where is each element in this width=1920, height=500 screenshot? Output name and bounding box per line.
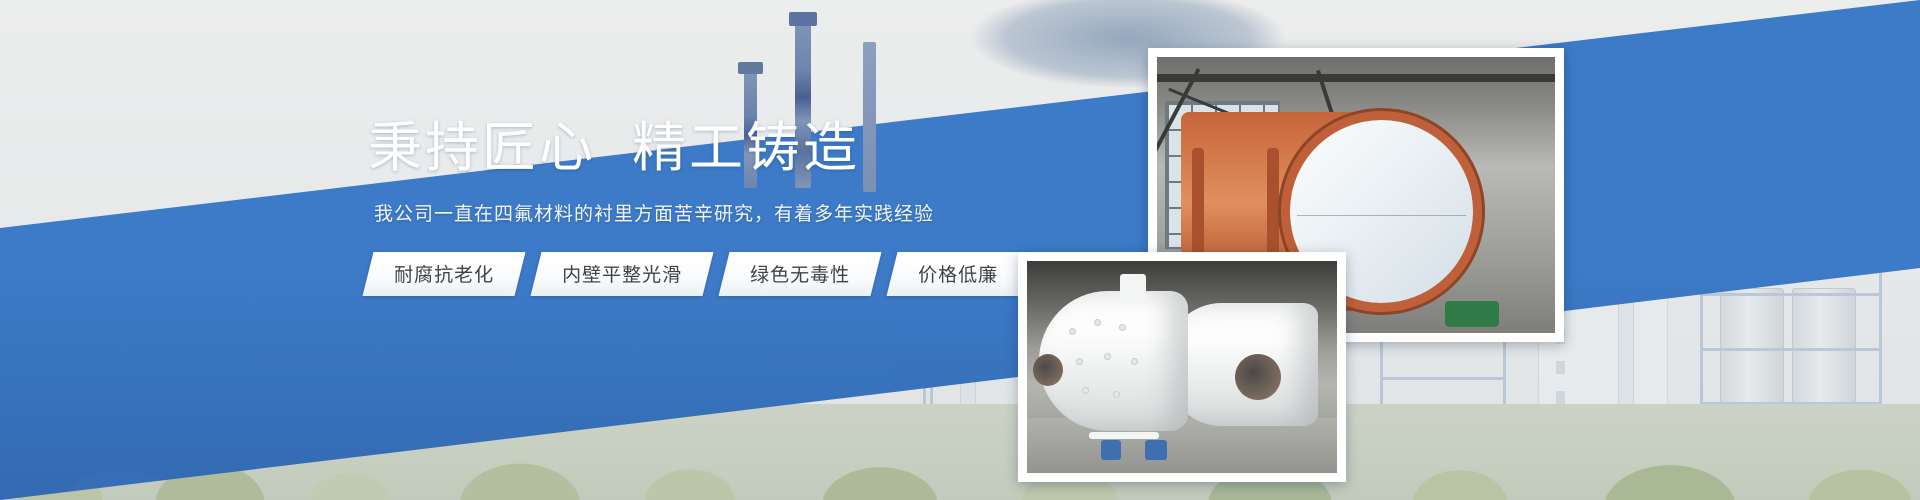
white-tanks-image [1027,261,1337,473]
feature-tag-list: 耐腐抗老化 内壁平整光滑 绿色无毒性 价格低廉 [368,252,1068,296]
tank-vent [1120,274,1146,300]
page-subtitle: 我公司一直在四氟材料的衬里方面苦辛研究，有着多年实践经验 [374,199,1068,226]
building-window [1556,391,1565,404]
feature-tag-1-label: 耐腐抗老化 [394,260,494,287]
feature-tag-4[interactable]: 价格低廉 [887,252,1030,296]
page-title: 秉持匠心 精工铸造 [368,120,1068,177]
feature-tag-2[interactable]: 内壁平整光滑 [531,252,714,296]
smokestack-cap [789,12,817,26]
feature-tag-2-label: 内壁平整光滑 [562,260,682,287]
green-drum [1445,301,1499,327]
smokestack-cap [738,62,763,74]
white-tanks-photo[interactable] [1018,252,1346,482]
hero-banner: 秉持匠心 精工铸造 我公司一直在四氟材料的衬里方面苦辛研究，有着多年实践经验 耐… [0,0,1920,500]
tank-pipe [1089,432,1159,439]
feature-tag-4-label: 价格低廉 [918,260,998,287]
building-window [1556,361,1565,374]
feature-tag-3-label: 绿色无毒性 [750,260,850,287]
tank-valve [1145,440,1167,460]
feature-tag-1[interactable]: 耐腐抗老化 [363,252,526,296]
roof-beam [1157,74,1555,82]
feature-tag-3[interactable]: 绿色无毒性 [719,252,882,296]
hero-content: 秉持匠心 精工铸造 我公司一直在四氟材料的衬里方面苦辛研究，有着多年实践经验 耐… [368,120,1068,296]
storage-tank [1039,291,1188,431]
tank-valve [1101,440,1121,460]
